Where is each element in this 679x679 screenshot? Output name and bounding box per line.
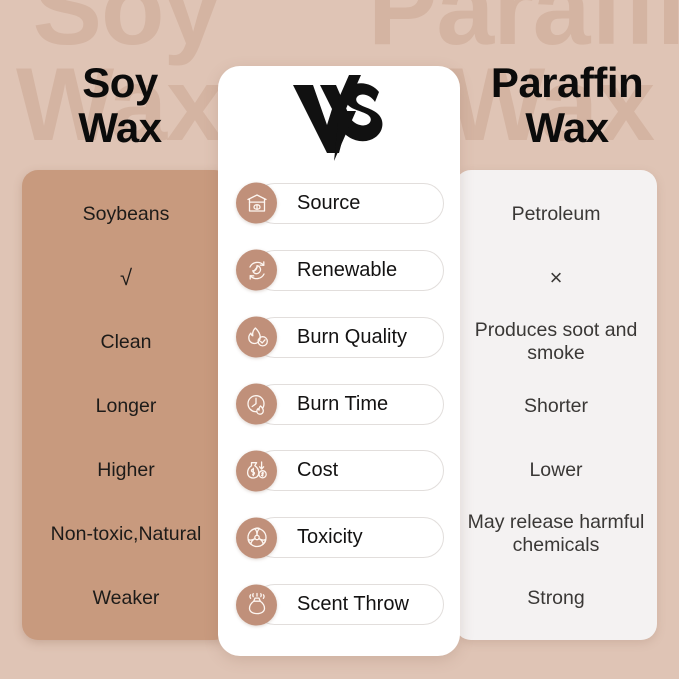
watermark-right-line-1: Paraffin xyxy=(368,0,679,58)
pill-label-burn-quality: Burn Quality xyxy=(297,326,407,349)
soy-value-burn-time: Longer xyxy=(30,374,222,438)
criteria-row-burn-quality[interactable]: Burn Quality xyxy=(218,304,460,371)
criteria-card: Source Renew xyxy=(218,66,460,656)
heading-left-line-2: Wax xyxy=(0,105,240,150)
paraffin-value-scent-throw: Strong xyxy=(463,566,649,630)
soy-value-toxicity: Non-toxic,Natural xyxy=(30,502,222,566)
money-bag-arrow-icon xyxy=(236,450,277,491)
infographic-canvas: Soy Wax Paraffin Wax Soy Wax Paraffin Wa… xyxy=(0,0,679,679)
heading-soy-wax: Soy Wax xyxy=(0,60,240,151)
heading-paraffin-wax: Paraffin Wax xyxy=(438,60,679,151)
pill-label-scent-throw: Scent Throw xyxy=(297,593,409,616)
biohazard-icon xyxy=(236,517,277,558)
sack-of-beans-icon xyxy=(236,183,277,224)
flame-check-icon xyxy=(236,317,277,358)
criteria-rows: Source Renew xyxy=(218,170,460,656)
heading-left-line-1: Soy xyxy=(0,60,240,105)
criteria-row-cost[interactable]: Cost xyxy=(218,437,460,504)
pill-label-cost: Cost xyxy=(297,459,338,482)
paraffin-value-burn-quality: Produces soot and smoke xyxy=(463,310,649,374)
pill-cost[interactable]: Cost xyxy=(254,450,444,491)
heading-right-line-1: Paraffin xyxy=(438,60,679,105)
soy-value-source: Soybeans xyxy=(30,182,222,246)
soy-value-burn-quality: Clean xyxy=(30,310,222,374)
pill-label-renewable: Renewable xyxy=(297,259,397,282)
paraffin-value-cost: Lower xyxy=(463,438,649,502)
soy-value-scent-throw: Weaker xyxy=(30,566,222,630)
paraffin-value-toxicity: May release harmful chemicals xyxy=(463,502,649,566)
paraffin-wax-values-panel: Petroleum × Produces soot and smoke Shor… xyxy=(455,170,657,640)
scent-sachet-icon xyxy=(236,584,277,625)
clock-flame-icon xyxy=(236,384,277,425)
pill-source[interactable]: Source xyxy=(254,183,444,224)
paraffin-value-source: Petroleum xyxy=(463,182,649,246)
criteria-row-burn-time[interactable]: Burn Time xyxy=(218,371,460,438)
criteria-row-toxicity[interactable]: Toxicity xyxy=(218,504,460,571)
soy-value-cost: Higher xyxy=(30,438,222,502)
pill-burn-quality[interactable]: Burn Quality xyxy=(254,317,444,358)
criteria-row-renewable[interactable]: Renewable xyxy=(218,237,460,304)
pill-scent-throw[interactable]: Scent Throw xyxy=(254,584,444,625)
leaf-recycle-icon xyxy=(236,250,277,291)
criteria-row-source[interactable]: Source xyxy=(218,170,460,237)
pill-toxicity[interactable]: Toxicity xyxy=(254,517,444,558)
pill-label-toxicity: Toxicity xyxy=(297,526,363,549)
paraffin-value-burn-time: Shorter xyxy=(463,374,649,438)
pill-renewable[interactable]: Renewable xyxy=(254,250,444,291)
vs-lightning-icon xyxy=(287,75,391,161)
soy-wax-values-panel: Soybeans √ Clean Longer Higher Non-toxic… xyxy=(22,170,230,640)
heading-right-line-2: Wax xyxy=(438,105,679,150)
pill-label-burn-time: Burn Time xyxy=(297,393,388,416)
criteria-row-scent-throw[interactable]: Scent Throw xyxy=(218,571,460,638)
watermark-left-line-1: Soy xyxy=(30,0,223,58)
pill-label-source: Source xyxy=(297,192,360,215)
pill-burn-time[interactable]: Burn Time xyxy=(254,384,444,425)
paraffin-value-renewable: × xyxy=(463,246,649,310)
vs-badge xyxy=(218,66,460,170)
soy-value-renewable: √ xyxy=(30,246,222,310)
